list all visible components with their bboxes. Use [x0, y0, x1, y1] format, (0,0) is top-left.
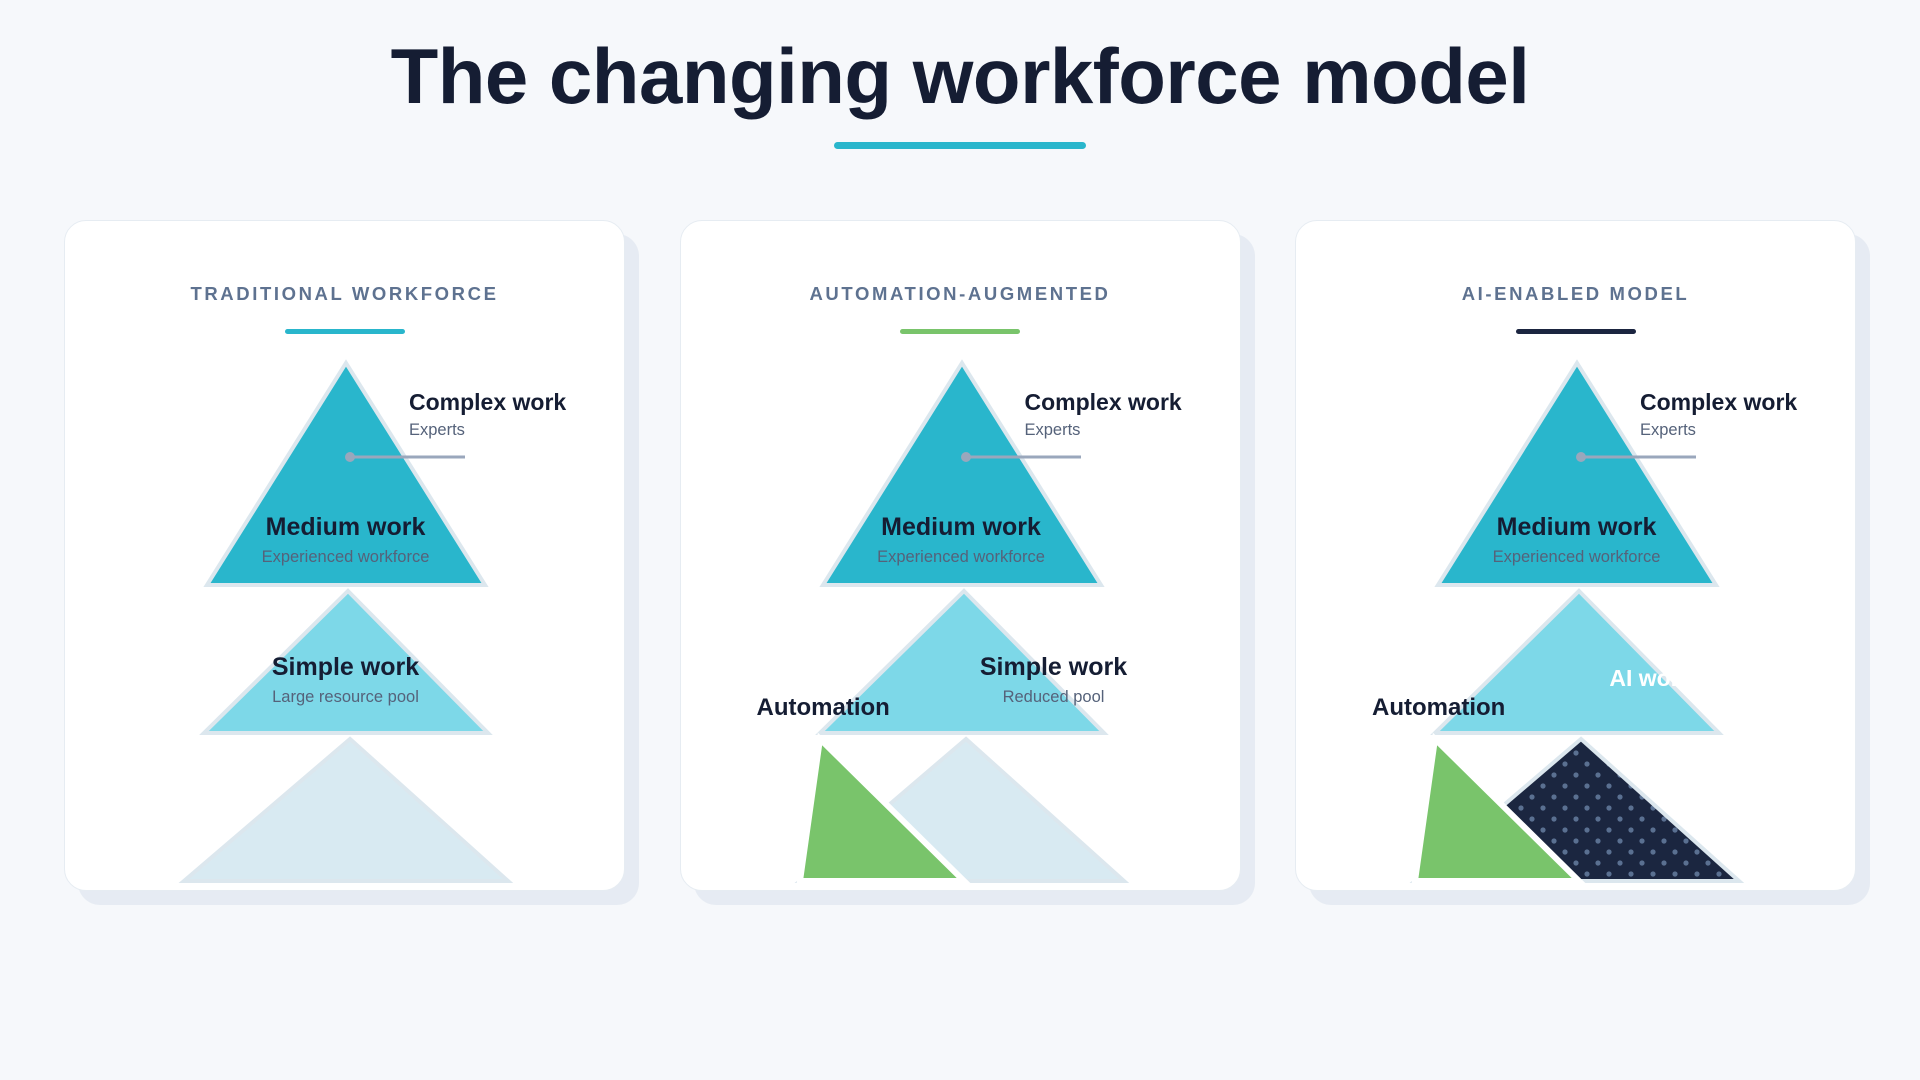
callout-complex-work: Complex work Experts: [1025, 389, 1182, 441]
callout-complex-work: Complex work Experts: [1640, 389, 1797, 441]
callout-complex-work: Complex work Experts: [409, 389, 566, 441]
pyramid-traditional: Complex work Experts Medium work Experie…: [65, 341, 624, 821]
infographic-page: The changing workforce model TRADITIONAL…: [0, 0, 1920, 1080]
card-traditional-workforce[interactable]: TRADITIONAL WORKFORCE Complex work Exper…: [64, 220, 625, 891]
card-accent-rule: [900, 329, 1020, 334]
tier-medium-shape: [820, 591, 1104, 733]
title-accent-rule: [834, 142, 1086, 149]
callout-title: Complex work: [1640, 389, 1797, 415]
tier-medium-shape: [1435, 591, 1719, 733]
card-accent-rule: [285, 329, 405, 334]
card-eyebrow-label: AI-ENABLED MODEL: [1296, 283, 1855, 305]
callout-title: Complex work: [409, 389, 566, 415]
card-ai-enabled-model[interactable]: AI-ENABLED MODEL: [1295, 220, 1856, 891]
callout-subtitle: Experts: [1025, 421, 1182, 441]
tier-simple-shape: [184, 739, 508, 881]
callout-subtitle: Experts: [409, 421, 566, 441]
leader-line-dot: [345, 452, 355, 462]
leader-line-dot: [1576, 452, 1586, 462]
pyramid-ai: Complex work Experts Medium work Experie…: [1296, 341, 1855, 821]
callout-subtitle: Experts: [1640, 421, 1797, 441]
card-header: TRADITIONAL WORKFORCE: [65, 221, 624, 334]
card-eyebrow-label: TRADITIONAL WORKFORCE: [65, 283, 624, 305]
card-automation-augmented[interactable]: AUTOMATION-AUGMENTED Complex work Expert: [680, 220, 1241, 891]
cards-row: TRADITIONAL WORKFORCE Complex work Exper…: [64, 220, 1856, 891]
callout-title: Complex work: [1025, 389, 1182, 415]
leader-line-dot: [961, 452, 971, 462]
card-header: AUTOMATION-AUGMENTED: [681, 221, 1240, 334]
pyramid-automation: Complex work Experts Medium work Experie…: [681, 341, 1240, 821]
page-title: The changing workforce model: [0, 36, 1920, 118]
card-eyebrow-label: AUTOMATION-AUGMENTED: [681, 283, 1240, 305]
card-accent-rule: [1516, 329, 1636, 334]
card-header: AI-ENABLED MODEL: [1296, 221, 1855, 334]
page-header: The changing workforce model: [0, 36, 1920, 149]
tier-medium-shape: [204, 591, 488, 733]
